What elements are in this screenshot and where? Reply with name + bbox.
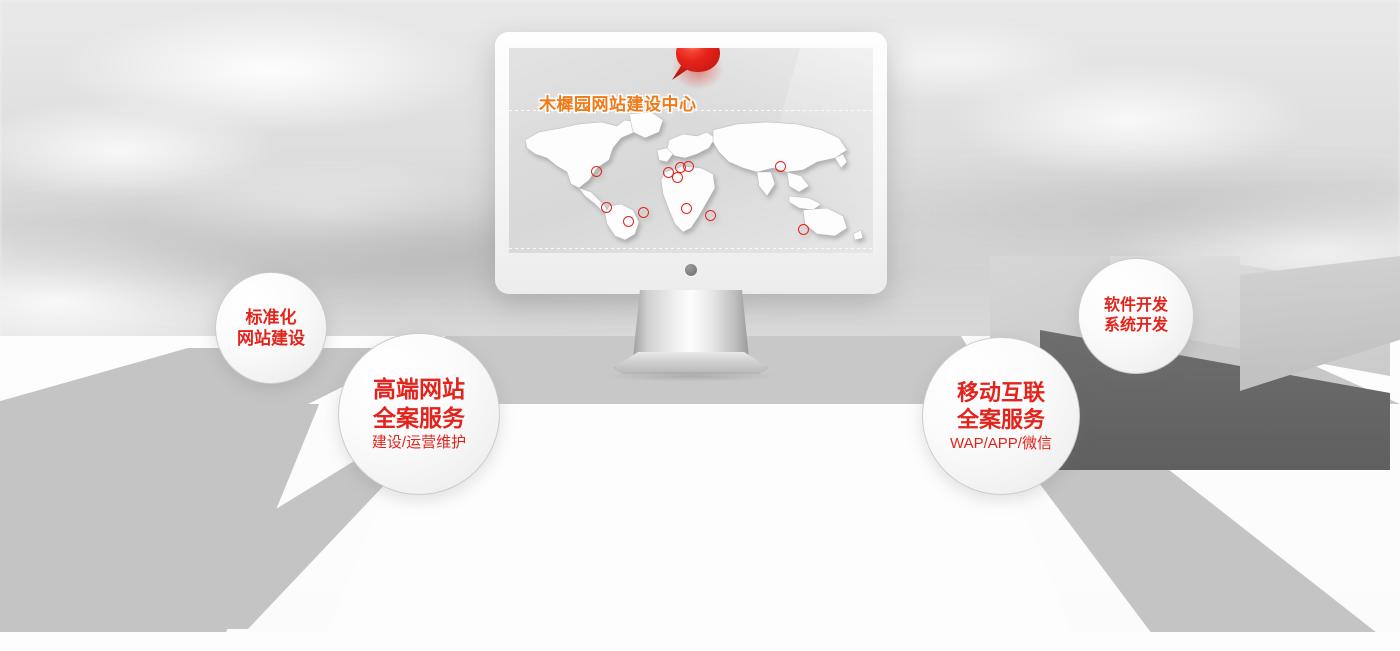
bubble-line-3: 建设/运营维护 [372, 433, 466, 453]
screen-divider-dots-bottom [509, 248, 873, 249]
bubble-line-3: WAP/APP/微信 [950, 434, 1052, 454]
bubble-line-1: 移动互联 [957, 379, 1045, 407]
feature-bubble-software-development[interactable]: 软件开发 系统开发 [1078, 258, 1194, 374]
monitor-stand-neck [633, 290, 749, 358]
floor-front-strip [0, 632, 1400, 651]
bubble-line-1: 标准化 [246, 307, 297, 328]
feature-bubble-premium-website[interactable]: 高端网站 全案服务 建设/运营维护 [338, 333, 500, 495]
screen-title: 木樨园网站建设中心 [539, 90, 697, 115]
bubble-line-2: 系统开发 [1104, 316, 1168, 336]
bubble-line-2: 全案服务 [373, 404, 465, 433]
feature-bubble-standard-website[interactable]: 标准化 网站建设 [215, 272, 327, 384]
bubble-line-2: 网站建设 [237, 328, 305, 349]
map-marker [683, 161, 694, 172]
bubble-line-2: 全案服务 [957, 406, 1045, 434]
map-marker [623, 216, 634, 227]
map-marker [601, 202, 612, 213]
banner-stage: 木樨园网站建设中心 木樨园网站建设服务热线：010-57281389 标准化 网… [0, 0, 1400, 651]
location-pin-icon [670, 48, 726, 88]
monitor-screen: 木樨园网站建设中心 木樨园网站建设服务热线：010-57281389 [509, 48, 873, 253]
computer-monitor: 木樨园网站建设中心 木樨园网站建设服务热线：010-57281389 [495, 32, 887, 294]
map-marker [798, 224, 809, 235]
feature-bubble-mobile-internet[interactable]: 移动互联 全案服务 WAP/APP/微信 [922, 337, 1080, 495]
bubble-line-1: 软件开发 [1104, 296, 1168, 316]
map-marker [775, 161, 786, 172]
map-marker [705, 210, 716, 221]
map-marker [591, 166, 602, 177]
map-marker [638, 207, 649, 218]
monitor-shadow [571, 368, 811, 384]
monitor-indicator-icon [685, 264, 697, 276]
bubble-line-1: 高端网站 [373, 375, 465, 404]
world-map-graphic [517, 110, 867, 240]
map-marker [681, 203, 692, 214]
map-marker [672, 172, 683, 183]
